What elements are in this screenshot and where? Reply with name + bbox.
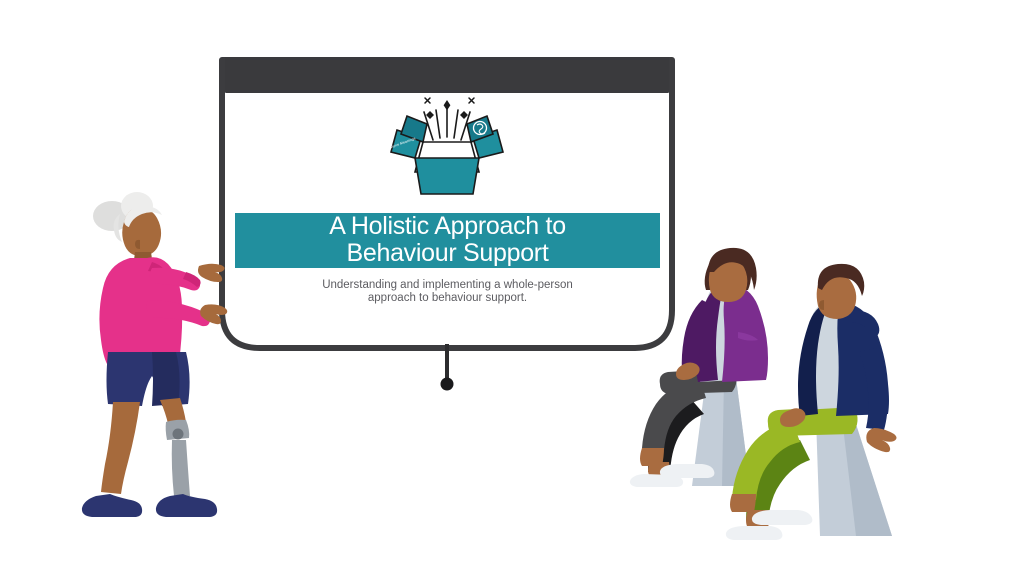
presenter-shoe-prosthetic <box>156 494 217 517</box>
presenter-prosthetic-joint <box>173 429 184 440</box>
audience1-foot-front <box>640 448 664 466</box>
illustration-canvas: Stone Meanings A Holistic Approach to Be… <box>0 0 1024 576</box>
audience2-hand-rear <box>866 428 896 452</box>
presenter-prosthetic-pylon <box>172 440 190 496</box>
audience1-shoe-front <box>660 464 715 478</box>
audience2-foot-front <box>730 494 756 512</box>
audience2-shoe-rear <box>726 526 783 540</box>
slide-title-line-1: A Holistic Approach to <box>329 212 566 240</box>
presenter-shorts-shadow <box>152 352 180 406</box>
handle-knob <box>441 378 454 391</box>
presenter-shoe-rear <box>82 494 142 517</box>
slide-subtitle-line-2: approach to behaviour support. <box>368 292 527 304</box>
slide-title-line-2: Behaviour Support <box>347 239 549 267</box>
audience2-shoe-front <box>752 510 812 525</box>
presenter-leg-rear <box>101 402 140 494</box>
presentation-scene-illustration: Stone Meanings A Holistic Approach to Be… <box>0 0 1024 576</box>
presenter-figure <box>82 192 227 517</box>
handle-rod <box>445 344 449 382</box>
slide-subtitle-line-1: Understanding and implementing a whole-p… <box>322 279 573 291</box>
box-front-face <box>415 158 479 194</box>
screen-header-bar <box>225 57 669 93</box>
projector-screen: Stone Meanings A Holistic Approach to Be… <box>222 57 672 391</box>
